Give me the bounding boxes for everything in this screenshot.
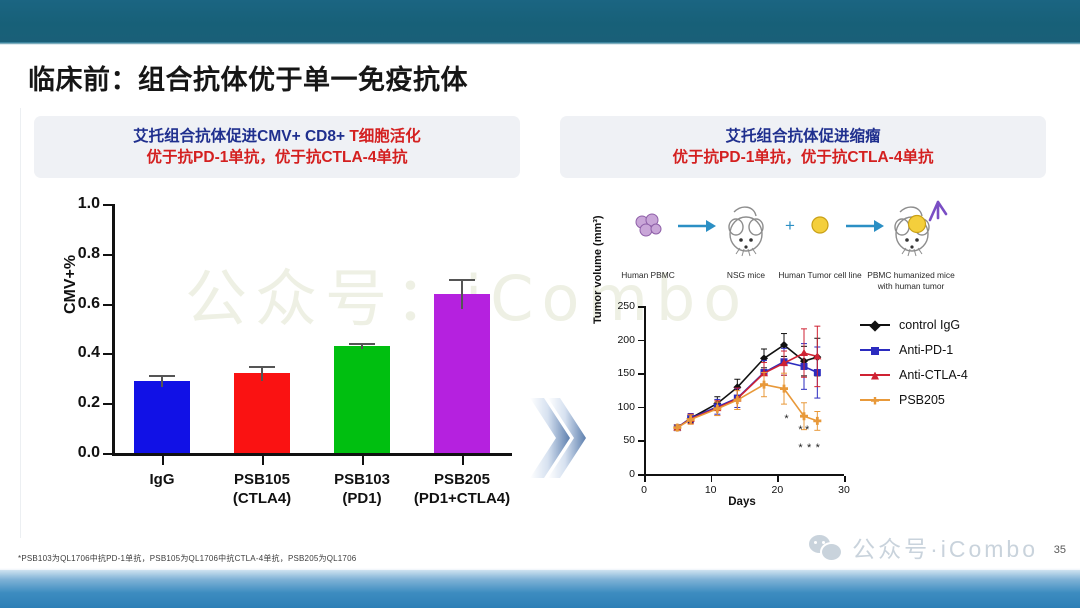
- bar-chart-x-tick: [462, 456, 464, 465]
- line-chart-x-axis-label: Days: [728, 496, 756, 508]
- legend-item[interactable]: Anti-CTLA-4: [860, 368, 968, 382]
- bar-chart-bar: [234, 373, 290, 453]
- bar-chart-y-tick: [103, 353, 112, 355]
- mouse-icon: [729, 207, 763, 256]
- bar-chart-plot-area: 0.00.20.40.60.81.0IgGPSB105(CTLA4)PSB103…: [112, 204, 512, 456]
- left-panel-title-line1: 艾托组合抗体促进CMV+ CD8+ T细胞活化: [133, 126, 421, 147]
- line-chart-y-axis-label: Tumor volume (mm³): [592, 215, 604, 324]
- chevron-right-icon: [530, 390, 588, 486]
- significance-marker: *: [798, 426, 802, 434]
- legend-label: PSB205: [899, 393, 945, 407]
- experiment-workflow-diagram: +: [608, 200, 968, 304]
- tumor-volume-line-chart: Tumor volume (mm³) 050100150200250010203…: [592, 302, 1062, 534]
- bar-chart-y-tick: [103, 204, 112, 206]
- significance-marker: *: [805, 426, 809, 434]
- significance-marker: *: [816, 444, 820, 452]
- tumor-cell-icon: [812, 217, 828, 233]
- bar-chart-y-tick: [103, 254, 112, 256]
- bar-chart-error-bar: [361, 343, 363, 349]
- bar-chart-y-tick: [103, 453, 112, 455]
- legend-marker-icon: [860, 369, 890, 381]
- line-chart-x-tick: [644, 476, 646, 482]
- bar-chart-x-tick: [362, 456, 364, 465]
- line-chart-x-tick: [844, 476, 846, 482]
- line-chart-series-layer: [644, 306, 844, 476]
- bar-chart-x-tick: [162, 456, 164, 465]
- bar-chart-x-label: PSB205(PD1+CTLA4): [414, 470, 510, 508]
- line-chart-x-tick-label: 0: [641, 484, 647, 496]
- bar-chart-error-bar: [161, 375, 163, 387]
- significance-marker: *: [798, 444, 802, 452]
- bar-chart-y-tick-label: 0.0: [78, 444, 100, 462]
- bar-chart-y-tick-label: 1.0: [78, 195, 100, 213]
- cmv-bar-chart: CMV+% 0.00.20.40.60.81.0IgGPSB105(CTLA4)…: [60, 196, 522, 528]
- legend-label: control IgG: [899, 318, 960, 332]
- legend-marker-icon: [860, 319, 890, 331]
- left-panel-title-line1-blue: 艾托组合抗体促进CMV+ CD8+: [133, 128, 349, 145]
- left-panel: 艾托组合抗体促进CMV+ CD8+ T细胞活化 优于抗PD-1单抗，优于抗CTL…: [22, 104, 534, 540]
- bar-chart-y-tick-label: 0.2: [78, 394, 100, 412]
- right-panel-title-line2: 优于抗PD-1单抗，优于抗CTLA-4单抗: [673, 147, 934, 168]
- legend-item[interactable]: Anti-PD-1: [860, 343, 968, 357]
- watermark-bottom-text: 公众号·iCombo: [852, 530, 1038, 564]
- workflow-caption-1: Human PBMC: [608, 270, 688, 281]
- legend-item[interactable]: PSB205: [860, 393, 968, 407]
- bar-chart-y-tick: [103, 304, 112, 306]
- line-chart-x-tick: [777, 476, 779, 482]
- footnote: *PSB103为QL1706中抗PD-1单抗，PSB105为QL1706中抗CT…: [18, 553, 356, 564]
- arrow-right-icon-2: [846, 220, 884, 232]
- wechat-icon: [809, 535, 843, 559]
- bar-chart-x-axis: [112, 453, 512, 456]
- line-chart-y-tick-label: 250: [617, 300, 635, 312]
- line-chart-plot-area: 0501001502002500102030******: [644, 306, 844, 476]
- bar-chart-y-tick: [103, 403, 112, 405]
- workflow-caption-3: Human Tumor cell line: [778, 270, 862, 281]
- line-chart-legend: control IgGAnti-PD-1Anti-CTLA-4PSB205: [860, 318, 968, 418]
- line-chart-y-tick-label: 200: [617, 334, 635, 346]
- humanized-mouse-icon: [895, 202, 946, 256]
- bar-chart-x-tick: [262, 456, 264, 465]
- slide-header-bar: [0, 0, 1080, 44]
- bar-chart-y-tick-label: 0.6: [78, 295, 100, 313]
- line-chart-x-tick: [711, 476, 713, 482]
- line-chart-x-tick-label: 10: [705, 484, 717, 496]
- pbmc-cells-icon: [636, 214, 661, 236]
- workflow-caption-4: PBMC humanized mice with human tumor: [862, 270, 960, 292]
- left-panel-title-line2: 优于抗PD-1单抗，优于抗CTLA-4单抗: [147, 147, 408, 168]
- slide-footer-bar: [0, 570, 1080, 608]
- line-chart-y-tick-label: 100: [617, 401, 635, 413]
- bar-chart-y-tick-label: 0.4: [78, 344, 100, 362]
- workflow-caption-2: NSG mice: [709, 270, 783, 281]
- bar-chart-y-tick-label: 0.8: [78, 245, 100, 263]
- bar-chart-bar: [134, 381, 190, 453]
- plus-icon: +: [785, 216, 795, 235]
- slide-header-edge: [0, 42, 1080, 45]
- bar-chart-error-bar: [461, 279, 463, 309]
- significance-marker: *: [807, 444, 811, 452]
- arrow-right-icon-1: [678, 220, 716, 232]
- bar-chart-bar: [434, 294, 490, 453]
- legend-label: Anti-PD-1: [899, 343, 953, 357]
- line-chart-y-tick-label: 50: [623, 434, 635, 446]
- line-series: [673, 373, 821, 432]
- bar-chart-x-label: IgG: [150, 470, 175, 489]
- legend-marker-icon: [860, 344, 890, 356]
- bar-chart-y-axis: [112, 204, 115, 456]
- legend-marker-icon: [860, 394, 890, 406]
- bar-chart-x-label: PSB105(CTLA4): [233, 470, 291, 508]
- line-chart-x-tick-label: 30: [838, 484, 850, 496]
- legend-item[interactable]: control IgG: [860, 318, 968, 332]
- line-chart-x-tick-label: 20: [771, 484, 783, 496]
- bar-chart-x-label: PSB103(PD1): [334, 470, 390, 508]
- page-title: 临床前：组合抗体优于单一免疫抗体: [28, 58, 468, 97]
- right-panel-title-line1: 艾托组合抗体促进缩瘤: [725, 126, 880, 147]
- left-panel-title-line1-red: T细胞活化: [349, 128, 420, 145]
- significance-marker: *: [784, 415, 788, 423]
- watermark-bottom: 公众号·iCombo: [809, 530, 1038, 564]
- right-panel: 艾托组合抗体促进缩瘤 优于抗PD-1单抗，优于抗CTLA-4单抗: [548, 104, 1060, 540]
- left-panel-header: 艾托组合抗体促进CMV+ CD8+ T细胞活化 优于抗PD-1单抗，优于抗CTL…: [34, 116, 520, 178]
- page-number: 35: [1054, 544, 1066, 556]
- legend-label: Anti-CTLA-4: [899, 368, 968, 382]
- bar-chart-error-bar: [261, 366, 263, 381]
- bar-chart-bar: [334, 346, 390, 453]
- line-chart-y-tick-label: 0: [629, 468, 635, 480]
- right-panel-header: 艾托组合抗体促进缩瘤 优于抗PD-1单抗，优于抗CTLA-4单抗: [560, 116, 1046, 178]
- line-chart-y-tick-label: 150: [617, 367, 635, 379]
